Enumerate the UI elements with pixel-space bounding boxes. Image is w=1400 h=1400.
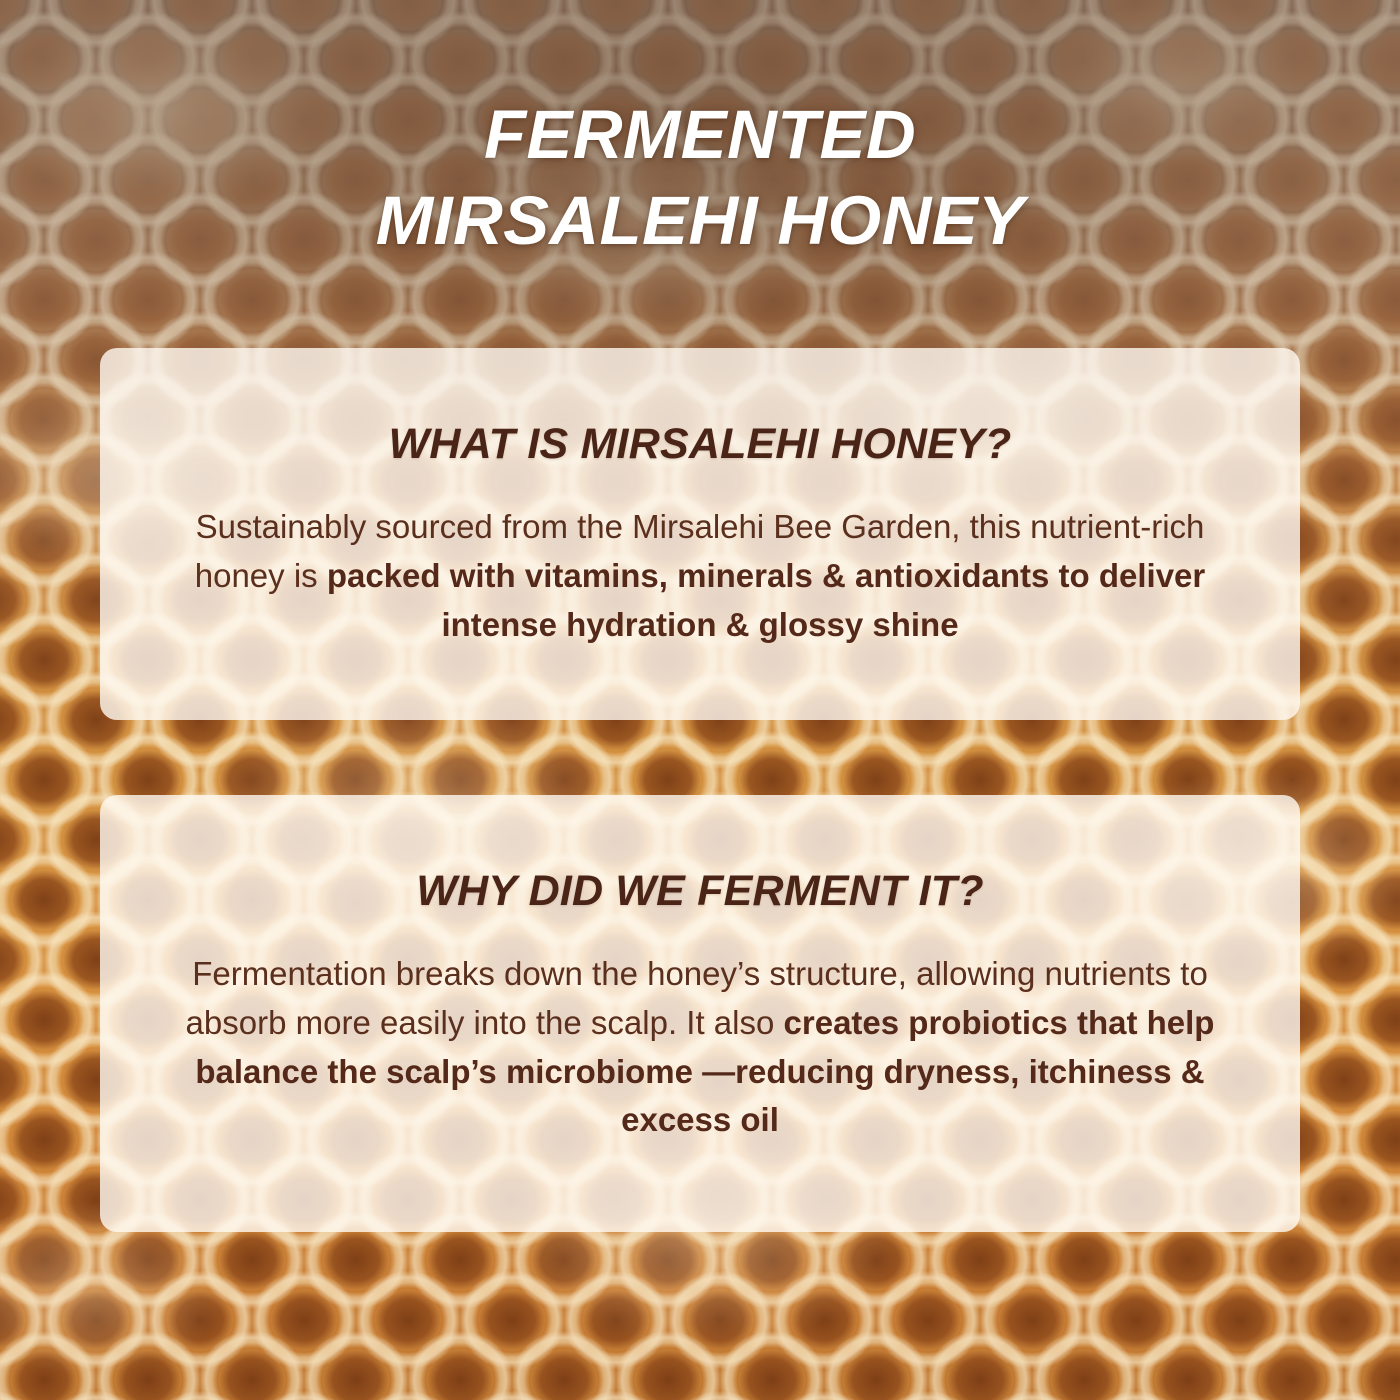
promo-graphic: FERMENTED MIRSALEHI HONEY WHAT IS MIRSAL… <box>0 0 1400 1400</box>
card-heading: WHAT IS MIRSALEHI HONEY? <box>389 420 1012 469</box>
card-heading: WHY DID WE FERMENT IT? <box>416 867 983 916</box>
info-card-why-did-we-ferment-it: WHY DID WE FERMENT IT? Fermentation brea… <box>100 795 1300 1232</box>
info-card-what-is-mirsalehi-honey: WHAT IS MIRSALEHI HONEY? Sustainably sou… <box>100 348 1300 720</box>
card-body-text: Fermentation breaks down the honey’s str… <box>170 950 1230 1145</box>
card-body-text: Sustainably sourced from the Mirsalehi B… <box>170 503 1230 649</box>
page-title: FERMENTED MIRSALEHI HONEY <box>0 92 1400 263</box>
